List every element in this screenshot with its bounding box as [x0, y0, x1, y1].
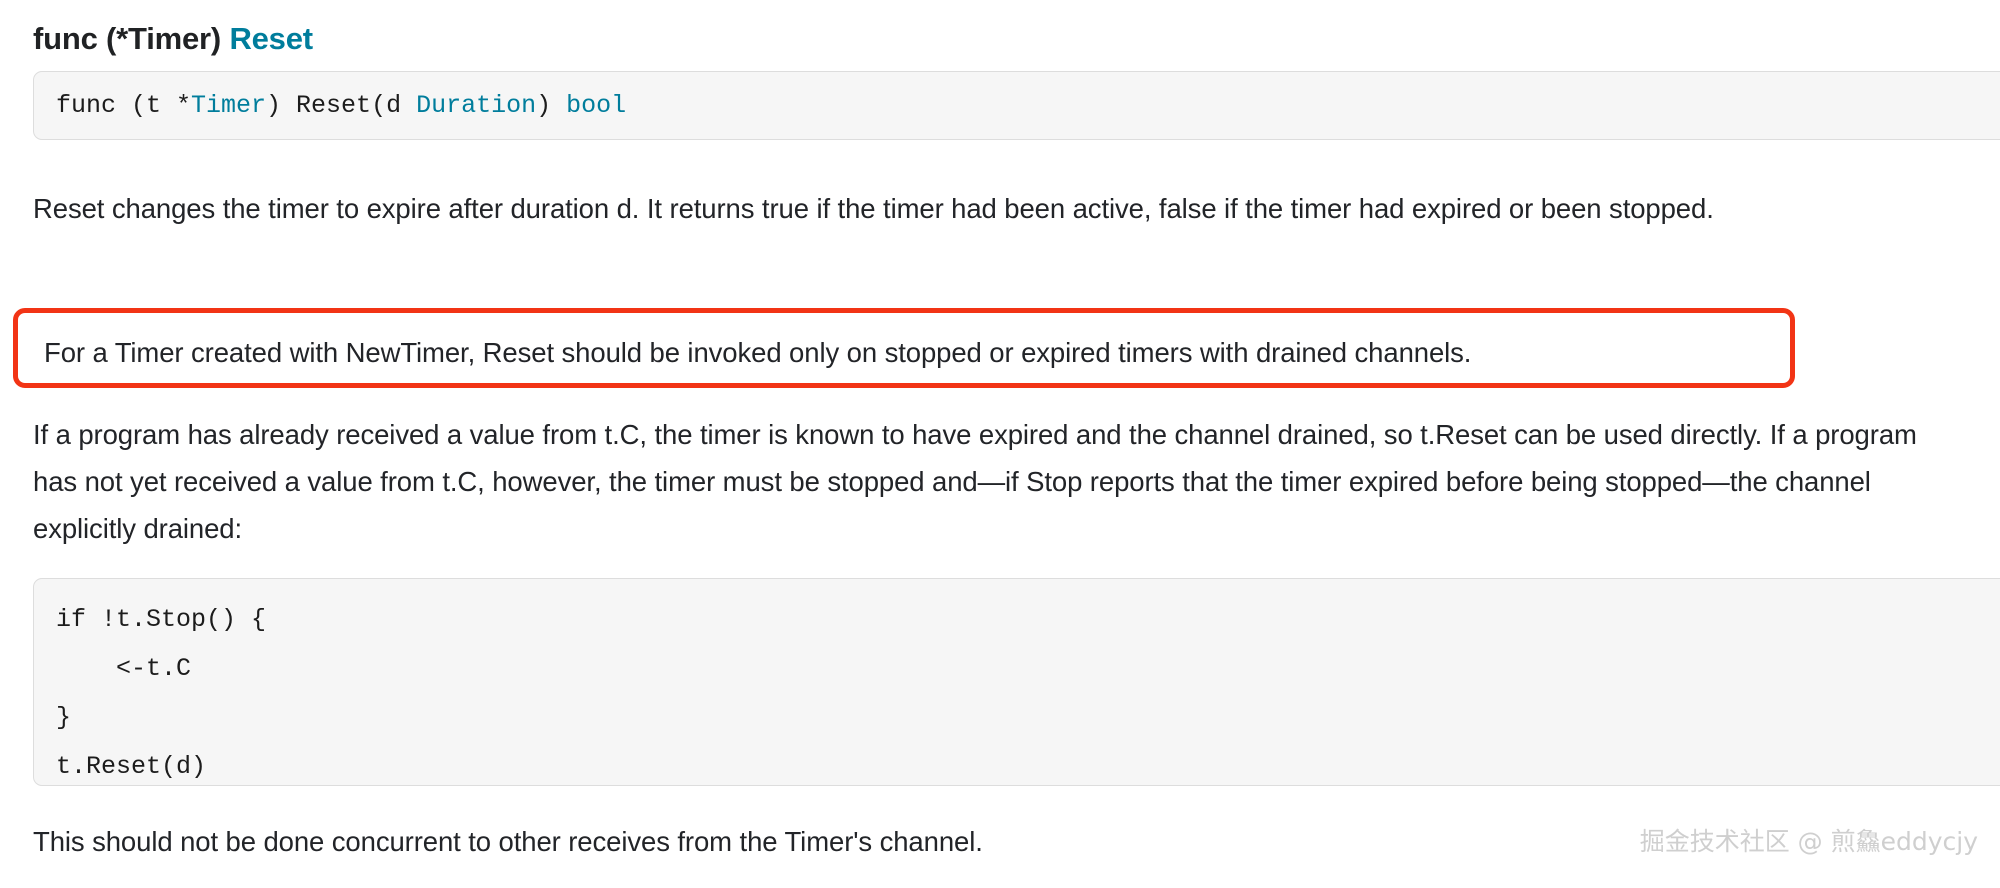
signature-receiver-type-link[interactable]: Timer [191, 91, 266, 120]
doc-content: func (*Timer) Reset func (t *Timer) Rese… [33, 0, 2000, 57]
example-code-block: if !t.Stop() { <-t.C}t.Reset(d) [33, 578, 2000, 786]
closing-paragraph: This should not be done concurrent to ot… [33, 822, 1433, 862]
signature-part-1: func (t * [56, 91, 191, 120]
signature-part-3: ) [536, 91, 566, 120]
details-paragraph: If a program has already received a valu… [33, 411, 1933, 552]
code-line: t.Reset(d) [56, 742, 2000, 786]
code-line: if !t.Stop() { [56, 595, 2000, 644]
page-title-prefix: func (*Timer) [33, 21, 229, 56]
godoc-reset-page: func (*Timer) Reset func (t *Timer) Rese… [0, 0, 2000, 888]
intro-paragraph: Reset changes the timer to expire after … [33, 185, 1933, 232]
signature-part-2: ) Reset(d [266, 91, 416, 120]
code-line: <-t.C [56, 644, 2000, 693]
watermark: 掘金技术社区 @ 煎鱻eddycjy [1640, 824, 1978, 860]
code-line: } [56, 693, 2000, 742]
function-signature-code: func (t *Timer) Reset(d Duration) bool [56, 87, 626, 125]
signature-param-type-link[interactable]: Duration [416, 91, 536, 120]
highlighted-paragraph: For a Timer created with NewTimer, Reset… [44, 331, 1774, 375]
function-signature-code-block: func (t *Timer) Reset(d Duration) bool [33, 71, 2000, 140]
page-title: func (*Timer) Reset [33, 20, 2000, 57]
highlight-annotation-box: For a Timer created with NewTimer, Reset… [13, 308, 1795, 388]
signature-return-type-link[interactable]: bool [566, 91, 626, 120]
page-title-function-link[interactable]: Reset [229, 21, 312, 56]
